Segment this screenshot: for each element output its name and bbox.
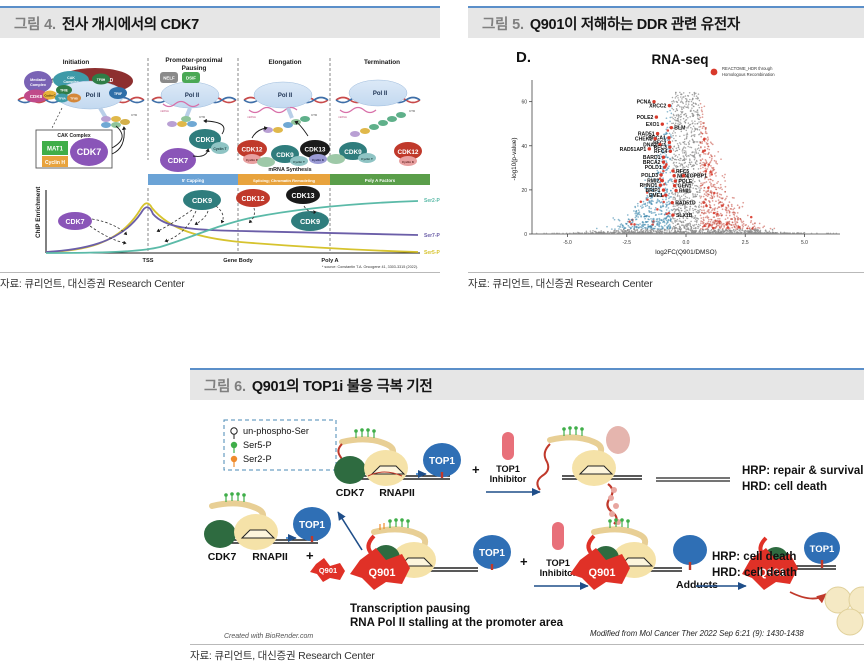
cyclinc-label: Cyclin C: [44, 94, 55, 98]
dsif-label: DSIF: [186, 76, 196, 81]
legend-unphospho-label: un-phospho-Ser: [243, 426, 309, 436]
curve-label-ser5p: Ser5-P: [424, 250, 440, 256]
figure-4: 그림 4. 전사 개시에서의 CDK7 Initiation Promoter-…: [0, 6, 440, 291]
cdk7-label-pausing: CDK7: [168, 156, 188, 165]
gene-label: RMI1: [679, 188, 691, 194]
stage-label-initiation: Initiation: [63, 59, 90, 66]
figure-6-credit: Created with BioRender.com: [224, 633, 313, 640]
ctd-beads-initiation: [101, 116, 130, 128]
xtick-tss: TSS: [143, 258, 154, 264]
stage-label-termination: Termination: [364, 59, 400, 66]
cdk9-label-term: CDK9: [344, 149, 362, 156]
mediator-label2: Complex: [30, 83, 47, 87]
cdk8-label: CDK8: [30, 94, 43, 99]
cyclint-label-pausing: Cyclin T: [213, 147, 227, 151]
mrna-label-termination: mRNA: [338, 115, 347, 119]
plus-bottom: +: [306, 548, 314, 563]
volcano-plot: D.RNA-seqREACTOME_HDR throughHomologous …: [468, 38, 864, 270]
chart-legend: REACTOME_HDR throughHomologous Recombina…: [711, 66, 776, 77]
cdk7-label-plot: CDK7: [65, 219, 84, 226]
legend-ser5p-label: Ser5-P: [243, 440, 272, 450]
misc-elong: [257, 157, 275, 167]
inhibitor-capsule-bottom: [552, 522, 564, 550]
figure-5-number: 그림 5.: [482, 13, 524, 34]
svg-text:40: 40: [521, 144, 527, 150]
curve-ser2p: [46, 201, 418, 253]
xtick-polya: Poly A: [321, 258, 338, 264]
svg-text:-2.5: -2.5: [622, 240, 631, 246]
figure-6-header: 그림 6. Q901의 TOP1i 불응 극복 기전: [190, 368, 864, 400]
arrow-curved-red: [790, 592, 826, 599]
q901-label-adduct: Q901: [589, 567, 616, 579]
tfiie-label: TFIIE: [60, 89, 68, 93]
band-splicing-label: Splicing; Chromatin Remodeling: [253, 178, 316, 183]
svg-text:-log10(p-value): -log10(p-value): [511, 138, 518, 181]
stage-label-pausing-2: Pausing: [182, 65, 207, 72]
svg-text:20: 20: [521, 188, 527, 194]
chart-title: RNA-seq: [651, 52, 708, 67]
top1-label-top: TOP1: [429, 456, 455, 467]
bottom-paused-complex: Q901 TOP1: [350, 518, 511, 590]
figure-6-source: 자료: 큐리언트, 대신증권 Research Center: [190, 644, 864, 663]
cyclink-label-12: Cyclin K: [246, 158, 259, 162]
ctd-beads-elongation: [263, 116, 310, 133]
mrna-label-elongation: mRNA: [247, 115, 256, 119]
stage-label-pausing: Promoter-proximal: [165, 57, 222, 64]
curve-label-ser2p: Ser2-P: [424, 198, 440, 204]
figure-5-source: 자료: 큐리언트, 대신증권 Research Center: [468, 272, 864, 291]
bottom-adduct-complex: Q901 Adducts: [570, 518, 718, 591]
plus-mid: +: [520, 554, 528, 569]
gene-label: XRCC2: [649, 104, 666, 110]
mrna-synthesis-label: mRNA Synthesis: [268, 167, 311, 173]
ctd-label-2: CTD: [199, 115, 206, 119]
figure-6-diagram: un-phospho-Ser Ser5-P Ser2-P: [190, 400, 864, 642]
mrna-label-pausing: mRNA: [160, 109, 169, 113]
cdk7-blob-bottom: [204, 520, 236, 548]
figure-6-title: Q901의 TOP1i 불응 극복 기전: [252, 375, 433, 396]
band-polya-label: Poly A Factors: [365, 178, 396, 183]
cdk13-label-plot: CDK13: [292, 193, 315, 200]
svg-text:60: 60: [521, 100, 527, 106]
figure-5-header: 그림 5. Q901이 저해하는 DDR 관련 유전자: [468, 6, 864, 38]
cdk12-label-term: CDK12: [398, 149, 419, 156]
legend-ser2p-label: Ser2-P: [243, 454, 272, 464]
svg-text:2.5: 2.5: [742, 240, 749, 246]
ctd-label-4: CTD: [409, 109, 416, 113]
cdk7-label-bottom: CDK7: [208, 551, 237, 563]
band-5-capping-label: 5' Capping: [182, 178, 205, 183]
top1-label-final: TOP1: [810, 544, 835, 555]
panel-letter: D.: [516, 49, 531, 66]
cdk12-label: CDK12: [242, 147, 263, 154]
top1-label-mid: TOP1: [479, 548, 505, 559]
tfiia-label: TFIIA: [58, 97, 66, 101]
outcome-top-1: HRP: repair & survival: [742, 465, 863, 477]
ctd-label-1: CTD: [131, 113, 138, 117]
gene-label: SLX1B: [676, 213, 693, 219]
svg-text:0: 0: [524, 232, 527, 238]
tfiih-label: TFIIH: [97, 78, 106, 82]
figure-4-body: Initiation Promoter-proximal Pausing Elo…: [0, 38, 440, 270]
cdk13-label: CDK13: [305, 147, 326, 154]
tfiif-label: TFIIF: [114, 92, 122, 96]
gene-label: RAD51D: [675, 201, 696, 207]
top-row-product: [537, 426, 642, 525]
figure-6-body: un-phospho-Ser Ser5-P Ser2-P: [190, 400, 864, 642]
svg-text:log2FC(Q901/DMSO): log2FC(Q901/DMSO): [655, 249, 716, 256]
figure-4-header: 그림 4. 전사 개시에서의 CDK7: [0, 6, 440, 38]
figure-4-title: 전사 개시에서의 CDK7: [62, 13, 199, 34]
cdk7-label-box: CDK7: [77, 147, 102, 157]
xtick-genebody: Gene Body: [223, 258, 253, 264]
inhibitor-label-top-2: Inhibitor: [490, 474, 527, 484]
gene-label: POLD1: [645, 165, 662, 171]
figure-5-title: Q901이 저해하는 DDR 관련 유전자: [530, 13, 740, 34]
pol2-label-initiation: Pol II: [86, 92, 101, 99]
svg-text:-5.0: -5.0: [563, 240, 572, 246]
outcome-bottom-2: HRD: cell death: [712, 567, 797, 579]
cdk9-label-plot: CDK9: [192, 196, 212, 205]
stage-label-elongation: Elongation: [268, 59, 301, 66]
cdk9-label-pausing: CDK9: [195, 137, 214, 144]
tfiib-label: TFIIB: [70, 97, 78, 101]
cyclink-label-term: Cyclin K: [402, 160, 415, 164]
figure-6-legend: un-phospho-Ser Ser5-P Ser2-P: [224, 420, 336, 470]
figure-6: 그림 6. Q901의 TOP1i 불응 극복 기전 un-phospho-Se…: [190, 368, 864, 663]
rnapii-label-bottom: RNAPII: [252, 551, 288, 563]
gene-label: EME1: [649, 193, 663, 199]
plus-top: +: [472, 462, 480, 477]
figure-5: 그림 5. Q901이 저해하는 DDR 관련 유전자 D.RNA-seqREA…: [468, 6, 864, 291]
chip-yaxis-label: ChIP Enrichment: [35, 186, 42, 238]
ctd-beads-pausing: [167, 116, 197, 127]
figure-4-source: 자료: 큐리언트, 대신증권 Research Center: [0, 272, 440, 291]
cdk9-label-plot2: CDK9: [300, 217, 320, 226]
gene-label: BLM: [674, 126, 685, 132]
curve-ser5p: [46, 203, 418, 252]
cdk9-label-elong: CDK9: [276, 152, 294, 159]
outcome-top-2: HRD: cell death: [742, 481, 827, 493]
cak-complex-box-title: CAK Complex: [57, 133, 91, 139]
q901-label-small: Q901: [319, 566, 337, 575]
curve-ser7p: [46, 207, 418, 252]
gene-label: RAD51AP1: [620, 147, 647, 153]
pol2-label-elongation: Pol II: [278, 93, 293, 99]
cdk7-blob-top: [334, 456, 366, 484]
curve-label-ser7p: Ser7-P: [424, 233, 440, 239]
cdk7-label-top: CDK7: [336, 487, 365, 499]
rnapii-label-top: RNAPII: [379, 487, 415, 499]
top1-label-bottom: TOP1: [299, 520, 325, 531]
cyclink-label-13: Cyclin K: [312, 158, 325, 162]
pol2-label-termination: Pol II: [373, 91, 388, 97]
top-row-complex: TOP1 CDK7 RNAPII: [334, 428, 461, 499]
mat1-label: MAT1: [47, 147, 64, 153]
cdk12-label-plot: CDK12: [242, 196, 265, 203]
inhibitor-label-top-1: TOP1: [496, 464, 520, 474]
figure-6-citation: Modified from Mol Cancer Ther 2022 Sep 6…: [590, 629, 804, 638]
cyclinh-label: Cyclin H: [45, 160, 65, 166]
figure-4-diagram: Initiation Promoter-proximal Pausing Elo…: [0, 38, 440, 270]
inhibitor-capsule-top: [502, 432, 514, 460]
misc-term: [327, 154, 345, 164]
svg-text:0.0: 0.0: [683, 240, 690, 246]
figure-6-caption-1: Transcription pausing: [350, 603, 470, 615]
q901-label-mid: Q901: [369, 567, 396, 579]
figure-4-number: 그림 4.: [14, 13, 56, 34]
figure-5-body: D.RNA-seqREACTOME_HDR throughHomologous …: [468, 38, 864, 270]
ctd-beads-termination: [350, 112, 406, 137]
svg-text:5.0: 5.0: [801, 240, 808, 246]
gene-label: POLE2: [637, 115, 654, 121]
nucleosome-cluster: [825, 587, 864, 635]
outcome-bottom-1: HRP: cell death: [712, 551, 796, 563]
nelf-label: NELF: [163, 76, 175, 81]
cyclint-label-elong: Cyclin T: [293, 160, 305, 164]
figure-6-caption-2: RNA Pol II stalling at the promoter area: [350, 617, 564, 629]
pol2-label-pausing: Pol II: [185, 93, 200, 99]
figure-6-number: 그림 6.: [204, 375, 246, 396]
adducts-label: Adducts: [676, 579, 718, 591]
svg-text:Homologous Recombination: Homologous Recombination: [722, 72, 775, 77]
cyclint-label-term: Cyclin T: [361, 157, 373, 161]
gene-label: EXO1: [646, 122, 660, 128]
inhibitor-label-bottom-1: TOP1: [546, 558, 570, 568]
arrow-diagonal: [338, 512, 362, 550]
svg-text:REACTOME_HDR through: REACTOME_HDR through: [722, 66, 773, 71]
mediator-label: Mediator: [30, 78, 46, 82]
ctd-label-3: CTD: [311, 113, 318, 117]
figure-4-citation: * source: Constantin T.A. Oncogene 41, 3…: [322, 265, 418, 269]
